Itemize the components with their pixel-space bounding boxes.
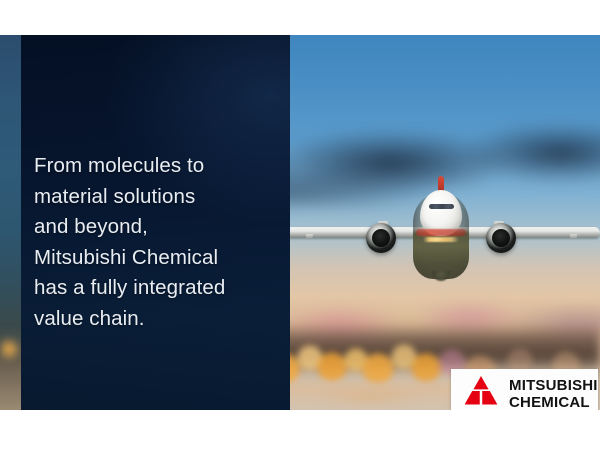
- left-edge-light-glow: [0, 331, 21, 379]
- bokeh-light: [317, 352, 347, 382]
- engine-right: [486, 223, 516, 253]
- logo-wordmark: MITSUBISHI CHEMICAL: [509, 377, 598, 410]
- mitsubishi-chemical-logo: MITSUBISHI CHEMICAL: [451, 369, 598, 410]
- wing-flap-right-outer: [570, 234, 577, 239]
- headline-text: From molecules to material solutions and…: [34, 151, 284, 334]
- logo-line-mitsubishi: MITSUBISHI: [509, 377, 598, 394]
- bokeh-light: [362, 353, 394, 385]
- airliner-icon: [282, 185, 600, 295]
- logo-line-chemical: CHEMICAL: [509, 394, 598, 410]
- bokeh-light: [411, 353, 441, 383]
- mitsubishi-three-diamond-icon: [460, 375, 502, 410]
- mitsubishi-chemical-banner: From molecules to material solutions and…: [0, 35, 600, 410]
- engine-left: [366, 223, 396, 253]
- fuselage-red-band: [416, 229, 466, 236]
- cockpit-windows: [429, 204, 454, 209]
- page-canvas: From molecules to material solutions and…: [0, 0, 600, 450]
- cabin-window-lights: [423, 237, 459, 242]
- landing-gear: [432, 271, 450, 281]
